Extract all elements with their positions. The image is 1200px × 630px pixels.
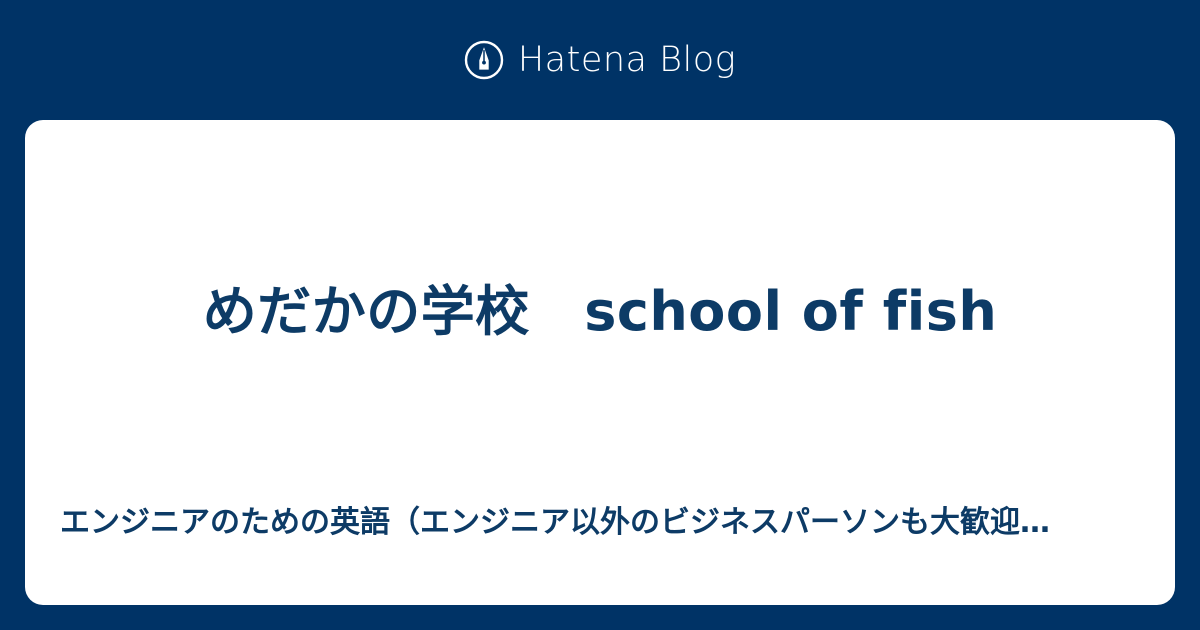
brand-name: Hatena Blog: [518, 40, 736, 80]
hatena-blog-og-card: Hatena Blog めだかの学校 school of fish エンジニアの…: [0, 0, 1200, 630]
pen-nib-circle-icon: [464, 40, 504, 80]
blog-title: エンジニアのための英語（エンジニア以外のビジネスパーソンも大歓迎…: [60, 502, 1150, 544]
entry-title: めだかの学校 school of fish: [65, 278, 1135, 346]
entry-card: めだかの学校 school of fish エンジニアのための英語（エンジニア以…: [25, 120, 1175, 605]
hatena-blog-logo: [464, 40, 504, 80]
brand-header: Hatena Blog: [0, 0, 1200, 120]
